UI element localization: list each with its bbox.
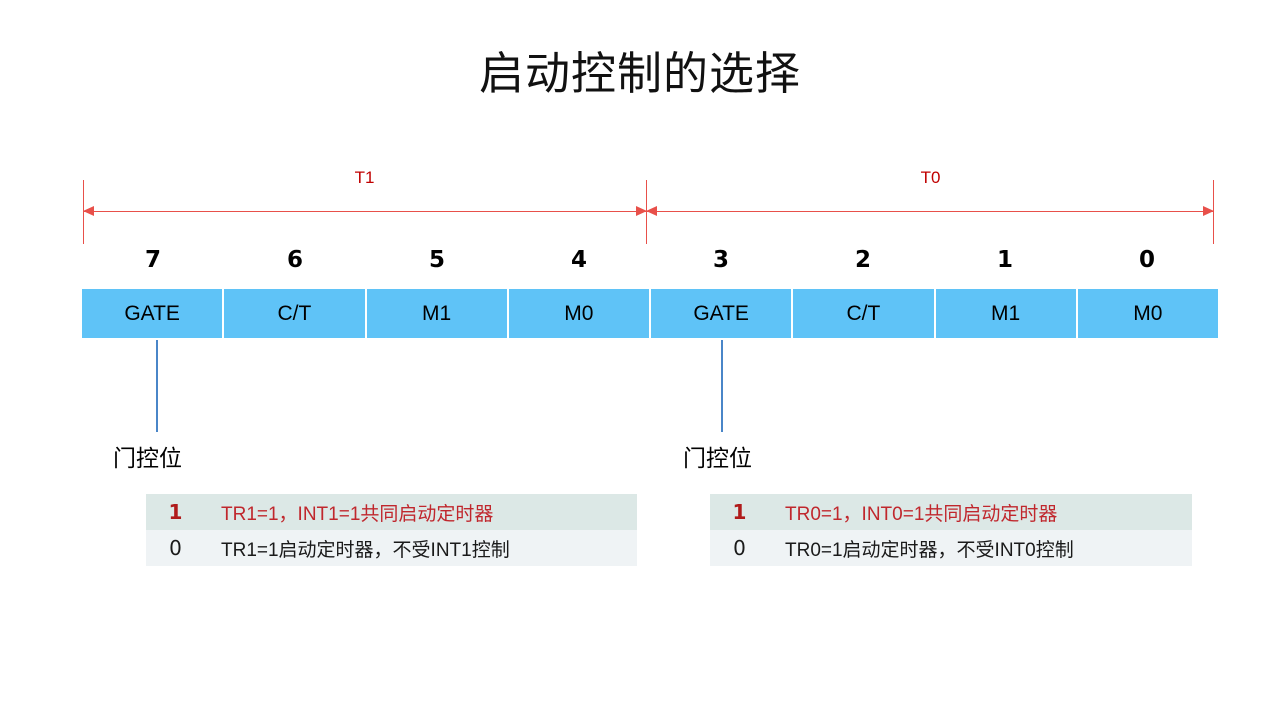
bit-number-7: 7 [82,244,224,276]
bit-number-3: 3 [650,244,792,276]
bit-number-4: 4 [508,244,650,276]
gate-value-t0-0: 0 [710,530,769,566]
range-arrow-line-t1 [83,211,647,212]
bit-field-row: GATE C/T M1 M0 GATE C/T M1 M0 [82,289,1218,338]
bit-cell-2[interactable]: C/T [793,289,935,338]
bit-cell-6[interactable]: C/T [224,289,366,338]
range-label-t1: T1 [83,168,646,188]
gate-detail-table-t1: 1 TR1=1，INT1=1共同启动定时器 0 TR1=1启动定时器，不受INT… [146,494,637,566]
gate-value-t1-0: 0 [146,530,205,566]
bit-cell-4[interactable]: M0 [509,289,651,338]
gate-desc-t0-0: TR0=1启动定时器，不受INT0控制 [769,530,1192,566]
slide-canvas: 启动控制的选择 T1 T0 7 6 5 4 3 2 1 0 GATE C/T M… [0,0,1280,720]
bit-cell-5[interactable]: M1 [367,289,509,338]
arrow-head-left-t1 [83,206,94,216]
page-title: 启动控制的选择 [0,46,1280,102]
table-row: 0 TR0=1启动定时器，不受INT0控制 [710,530,1192,566]
range-arrow-line-t0 [646,211,1214,212]
gate-desc-t0-1: TR0=1，INT0=1共同启动定时器 [769,494,1192,530]
bit-number-0: 0 [1076,244,1218,276]
bit-cell-0[interactable]: M0 [1078,289,1218,338]
bit-number-row: 7 6 5 4 3 2 1 0 [82,244,1218,276]
table-row: 1 TR0=1，INT0=1共同启动定时器 [710,494,1192,530]
caption-gate-bit-t0: 门控位 [683,444,752,474]
connector-line-gate-t0 [721,340,723,432]
gate-desc-t1-0: TR1=1启动定时器，不受INT1控制 [205,530,637,566]
gate-detail-table-t0: 1 TR0=1，INT0=1共同启动定时器 0 TR0=1启动定时器，不受INT… [710,494,1192,566]
table-row: 1 TR1=1，INT1=1共同启动定时器 [146,494,637,530]
bit-number-5: 5 [366,244,508,276]
bit-number-6: 6 [224,244,366,276]
table-row: 0 TR1=1启动定时器，不受INT1控制 [146,530,637,566]
bit-cell-7[interactable]: GATE [82,289,224,338]
gate-value-t0-1: 1 [710,494,769,530]
range-label-t0: T0 [646,168,1215,188]
bit-number-2: 2 [792,244,934,276]
bit-number-1: 1 [934,244,1076,276]
caption-gate-bit-t1: 门控位 [113,444,182,474]
bit-cell-3[interactable]: GATE [651,289,793,338]
gate-desc-t1-1: TR1=1，INT1=1共同启动定时器 [205,494,637,530]
arrow-head-right-t0 [1203,206,1214,216]
connector-line-gate-t1 [156,340,158,432]
bit-cell-1[interactable]: M1 [936,289,1078,338]
arrow-head-left-t0 [646,206,657,216]
gate-value-t1-1: 1 [146,494,205,530]
